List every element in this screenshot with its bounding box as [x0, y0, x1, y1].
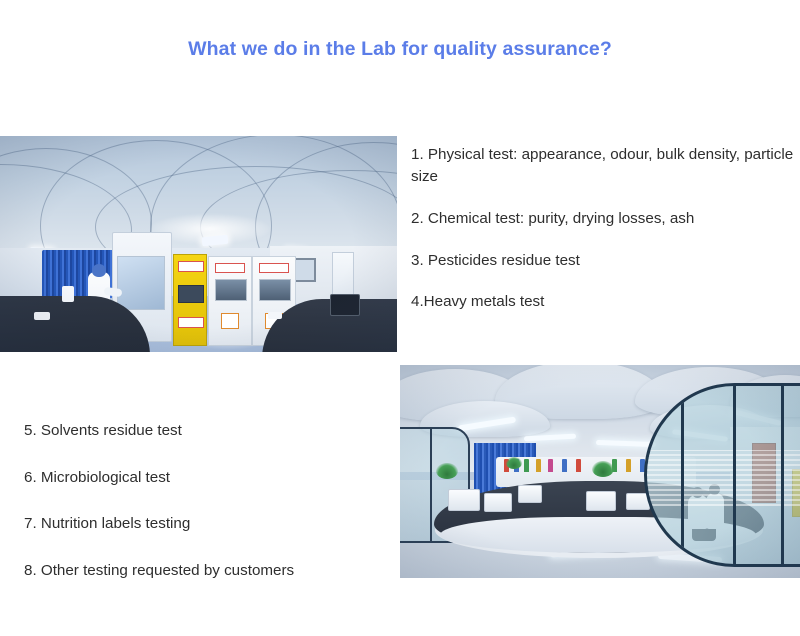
lab-instrument — [484, 493, 512, 512]
list-item: 2. Chemical test: purity, drying losses,… — [411, 208, 800, 230]
list-item: 7. Nutrition labels testing — [24, 513, 396, 535]
lab-technician-head — [92, 264, 106, 277]
test-list-bottom-left: 5. Solvents residue test 6. Microbiologi… — [24, 420, 396, 606]
list-item: 5. Solvents residue test — [24, 420, 396, 442]
reagent-bottle — [536, 459, 541, 472]
glass-mullion — [781, 386, 784, 564]
cabinet-window — [178, 285, 204, 303]
list-item: 1. Physical test: appearance, odour, bul… — [411, 144, 800, 187]
glass-mullion — [733, 386, 736, 564]
list-item: 8. Other testing requested by customers — [24, 560, 396, 582]
cabinet-window — [259, 279, 291, 301]
fume-hood-sash — [117, 256, 165, 310]
reagent-bottle — [562, 459, 567, 472]
yellow-safety-cabinet — [173, 254, 207, 346]
lab-door — [332, 252, 354, 298]
lab-photo-open-plan — [400, 365, 800, 578]
bench-equipment — [62, 286, 74, 302]
test-list-top-right: 1. Physical test: appearance, odour, bul… — [411, 144, 800, 333]
cabinet-warning-label — [259, 263, 289, 273]
lab-instrument — [586, 491, 616, 511]
reagent-bottle — [626, 459, 631, 472]
storage-cabinet — [208, 256, 252, 346]
bench-equipment — [268, 312, 282, 319]
hazard-sticker — [221, 313, 239, 329]
computer-monitor — [330, 294, 360, 316]
lab-photo-fume-hood — [0, 136, 397, 352]
cabinet-warning-label — [178, 317, 204, 328]
lab-hood-scene — [0, 136, 397, 352]
lab-open-scene — [400, 365, 800, 578]
reagent-bottle — [548, 459, 553, 472]
reagent-bottle — [576, 459, 581, 472]
page-title: What we do in the Lab for quality assura… — [0, 38, 800, 61]
list-item: 6. Microbiological test — [24, 467, 396, 489]
lab-instrument — [518, 485, 542, 503]
bench-equipment — [34, 312, 50, 320]
frosted-glass-band — [647, 450, 800, 506]
reagent-bottle — [524, 459, 529, 472]
cabinet-warning-label — [215, 263, 245, 273]
list-item: 4.Heavy metals test — [411, 291, 800, 313]
potted-plant — [506, 457, 522, 469]
lab-instrument — [448, 489, 480, 511]
glass-mullion — [430, 429, 432, 541]
cabinet-window — [215, 279, 247, 301]
list-item: 3. Pesticides residue test — [411, 250, 800, 272]
cabinet-warning-label — [178, 261, 204, 272]
glass-mullion — [681, 386, 684, 564]
potted-plant — [592, 461, 614, 477]
potted-plant — [436, 463, 458, 479]
